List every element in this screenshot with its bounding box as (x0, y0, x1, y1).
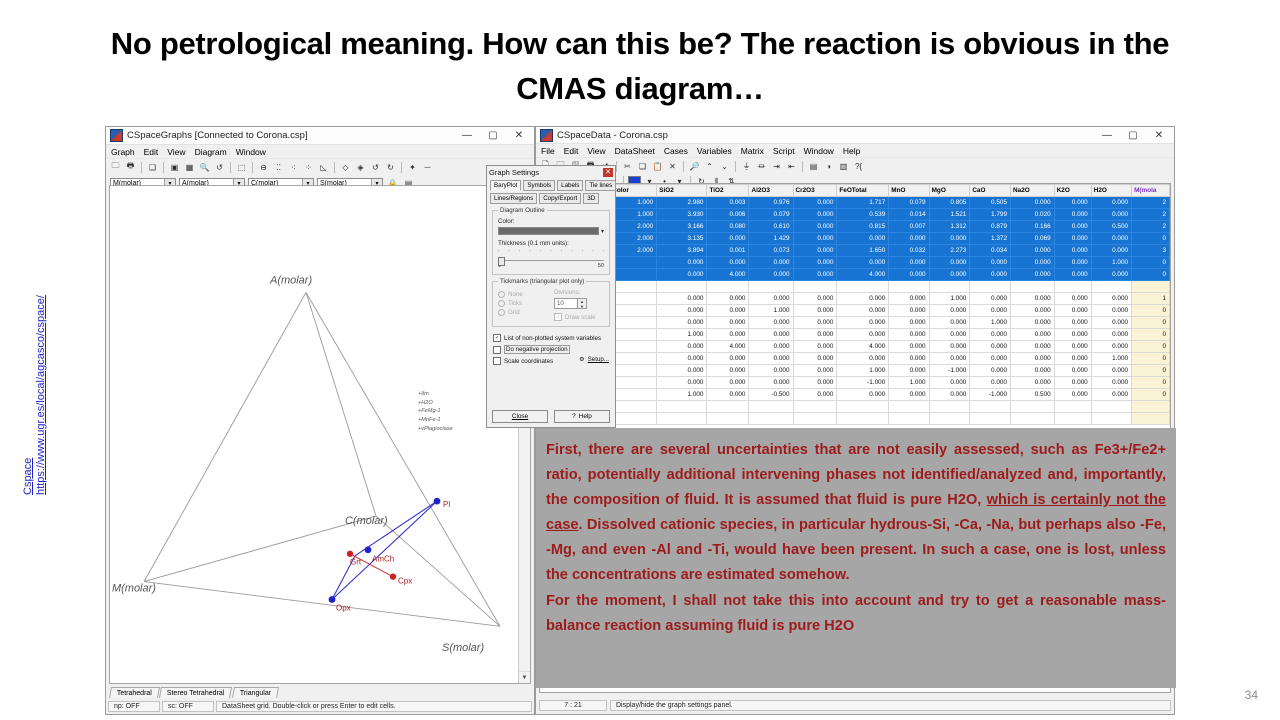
table-cell[interactable]: 0.000 (657, 365, 707, 377)
table-cell[interactable]: 2 (1132, 221, 1170, 233)
table-cell[interactable]: 0.000 (889, 365, 929, 377)
table-cell[interactable]: 0.000 (1054, 341, 1091, 353)
table-cell[interactable]: 0.166 (1011, 221, 1055, 233)
table-cell[interactable]: 0.000 (837, 293, 889, 305)
table-cell[interactable]: 0.000 (1054, 329, 1091, 341)
table-cell[interactable]: 0.000 (793, 245, 837, 257)
col-header-feototal[interactable]: FeOTotal (837, 185, 889, 197)
table-cell[interactable]: 0.000 (970, 353, 1011, 365)
table-cell[interactable]: 0.000 (1054, 389, 1091, 401)
table-cell[interactable]: 0 (1132, 233, 1170, 245)
table-cell[interactable]: 0.001 (707, 245, 749, 257)
col-header-na2o[interactable]: Na2O (1011, 185, 1055, 197)
rotate-icon[interactable]: ⊖ (257, 161, 270, 174)
table-cell[interactable]: 0.000 (1091, 317, 1131, 329)
table-row[interactable]: 1.0001.0003.9300.0060.0790.0000.5390.014… (541, 209, 1170, 221)
table-cell[interactable]: 1.000 (1091, 257, 1131, 269)
table-cell[interactable]: 0.000 (889, 269, 929, 281)
table-cell[interactable]: 0.000 (793, 305, 837, 317)
table-cell[interactable]: 0.000 (837, 233, 889, 245)
table-cell[interactable]: 0.000 (707, 329, 749, 341)
table-cell[interactable]: -0.500 (749, 389, 793, 401)
table-row[interactable]: clase1.0000.000-0.5000.0000.0000.0000.00… (541, 389, 1170, 401)
append-row-icon[interactable]: ⇤ (785, 160, 798, 173)
tab-copy-export[interactable]: Copy/Export (539, 193, 581, 204)
table-cell[interactable]: 0.000 (657, 377, 707, 389)
table-cell[interactable] (610, 269, 657, 281)
table-cell[interactable]: 0.000 (749, 377, 793, 389)
table-cell[interactable] (749, 401, 793, 413)
table-cell[interactable]: 0.000 (657, 353, 707, 365)
table-cell[interactable]: 0.000 (929, 329, 970, 341)
table-cell[interactable]: 0.000 (1011, 377, 1055, 389)
minimize-icon[interactable]: — (454, 128, 480, 143)
table-cell[interactable]: 0.000 (793, 233, 837, 245)
select-icon[interactable]: ⬚ (235, 161, 248, 174)
table-cell[interactable]: 0.000 (657, 305, 707, 317)
table-cell[interactable]: 0.000 (657, 341, 707, 353)
table-cell[interactable]: 0.000 (1054, 305, 1091, 317)
maximize-icon[interactable]: ▢ (1120, 128, 1146, 143)
table-cell[interactable]: 0.000 (657, 269, 707, 281)
table-cell[interactable]: 0.500 (1011, 389, 1055, 401)
table-cell[interactable]: 0.000 (929, 317, 970, 329)
table-cell[interactable] (749, 281, 793, 293)
region-icon[interactable]: ◺ (317, 161, 330, 174)
table-cell[interactable]: 0.000 (889, 257, 929, 269)
table-row[interactable]: 2.0002.0003.8940.0010.0730.0001.6500.032… (541, 245, 1170, 257)
table-cell[interactable]: 0.000 (837, 305, 889, 317)
script-icon[interactable]: ?{ (852, 160, 865, 173)
table-cell[interactable] (610, 257, 657, 269)
table-cell[interactable]: 0.003 (707, 197, 749, 209)
table-cell[interactable]: 0.000 (657, 317, 707, 329)
table-cell[interactable]: 0.000 (929, 305, 970, 317)
table-cell[interactable]: 1.000 (749, 305, 793, 317)
table-cell[interactable]: 3.930 (657, 209, 707, 221)
close-icon[interactable]: ✕ (603, 168, 613, 177)
table-cell[interactable]: 0.000 (1091, 233, 1131, 245)
close-icon[interactable]: ✕ (1146, 128, 1172, 143)
table-cell[interactable] (610, 305, 657, 317)
col-header-mgo[interactable]: MgO (929, 185, 970, 197)
table-row[interactable]: 0.0004.0000.0000.0004.0000.0000.0000.000… (541, 269, 1170, 281)
table-cell[interactable]: 0.000 (1054, 317, 1091, 329)
table-cell[interactable]: 0.000 (1011, 365, 1055, 377)
left-right-icon[interactable]: ◇ (339, 161, 352, 174)
table-cell[interactable] (1132, 281, 1170, 293)
table-cell[interactable]: 0.000 (793, 329, 837, 341)
table-cell[interactable] (970, 413, 1011, 425)
table-cell[interactable]: 0 (1132, 329, 1170, 341)
diagram-plot-area[interactable]: A(molar) M(molar) S(molar) C(molar) Pl (109, 185, 531, 684)
table-cell[interactable]: 0.805 (929, 197, 970, 209)
table-cell[interactable]: 2.980 (657, 197, 707, 209)
table-cell[interactable]: 4.000 (837, 341, 889, 353)
table-cell[interactable]: 0.000 (657, 257, 707, 269)
print-icon[interactable]: 🖶 (124, 161, 137, 174)
table-cell[interactable] (610, 401, 657, 413)
menu-view[interactable]: View (167, 147, 185, 157)
table-cell[interactable]: 0.000 (1091, 293, 1131, 305)
table-row[interactable] (541, 281, 1170, 293)
sort-asc-icon[interactable]: ⌃ (703, 160, 716, 173)
table-cell[interactable] (1011, 281, 1055, 293)
table-cell[interactable]: 0.000 (793, 257, 837, 269)
table-row[interactable]: 0.0000.0000.0000.000-1.0001.0000.0000.00… (541, 377, 1170, 389)
table-cell[interactable]: 0.000 (1054, 377, 1091, 389)
table-cell[interactable]: 1.000 (837, 365, 889, 377)
tab-tetrahedral[interactable]: Tetrahedral (109, 687, 160, 698)
table-cell[interactable]: 0.000 (793, 197, 837, 209)
table-cell[interactable] (837, 281, 889, 293)
table-row[interactable]: 0.0004.0000.0000.0004.0000.0000.0000.000… (541, 341, 1170, 353)
tab-triangular[interactable]: Triangular (232, 687, 279, 698)
paste-icon[interactable]: 📋 (651, 160, 664, 173)
table-row[interactable]: 0.0000.0000.0000.0000.0000.0000.0000.000… (541, 353, 1170, 365)
table-cell[interactable]: 1.000 (929, 293, 970, 305)
table-cell[interactable]: 0.000 (793, 341, 837, 353)
menu-edit[interactable]: Edit (144, 147, 159, 157)
table-cell[interactable]: 0.020 (1011, 209, 1055, 221)
table-cell[interactable]: 1.000 (610, 209, 657, 221)
table-cell[interactable]: 0.000 (793, 221, 837, 233)
table-cell[interactable]: 0.000 (793, 365, 837, 377)
table-cell[interactable]: 0.000 (1091, 197, 1131, 209)
table-cell[interactable] (889, 401, 929, 413)
table-cell[interactable]: 0.000 (1011, 269, 1055, 281)
col-header-mno[interactable]: MnO (889, 185, 929, 197)
table-cell[interactable]: 1.000 (657, 389, 707, 401)
table-cell[interactable]: 0.000 (1011, 197, 1055, 209)
table-cell[interactable]: 0.032 (889, 245, 929, 257)
table-cell[interactable]: 0.539 (837, 209, 889, 221)
close-button[interactable]: Close (492, 410, 548, 423)
table-cell[interactable]: 0.000 (929, 257, 970, 269)
solve-icon[interactable]: ◑ (822, 160, 835, 173)
table-cell[interactable]: 3.894 (657, 245, 707, 257)
table-cell[interactable]: 0.000 (707, 257, 749, 269)
report-icon[interactable]: ▥ (837, 160, 850, 173)
col-header-h2o[interactable]: H2O (1091, 185, 1131, 197)
minimize-icon[interactable]: — (1094, 128, 1120, 143)
table-cell[interactable]: 0.815 (837, 221, 889, 233)
table-cell[interactable]: 0.000 (970, 377, 1011, 389)
color-swatch[interactable] (498, 227, 599, 235)
table-row[interactable]: r)1.0000.0000.0000.0000.0000.0000.0000.0… (541, 329, 1170, 341)
checkbox-list-non-plotted[interactable]: ✓ List of non-plotted system variables (493, 334, 609, 342)
table-cell[interactable] (889, 413, 929, 425)
delete-icon[interactable]: ✕ (666, 160, 679, 173)
table-cell[interactable]: 4.000 (707, 341, 749, 353)
table-cell[interactable] (610, 389, 657, 401)
menu-graph[interactable]: Graph (111, 147, 135, 157)
scroll-down-icon[interactable]: ▼ (519, 671, 530, 683)
table-cell[interactable]: 0.000 (1091, 329, 1131, 341)
table-cell[interactable]: 0.000 (1011, 257, 1055, 269)
table-cell[interactable]: 0.000 (1054, 353, 1091, 365)
thickness-slider[interactable] (498, 257, 604, 263)
sort-desc-icon[interactable]: ⌄ (718, 160, 731, 173)
minus-icon[interactable]: － (421, 161, 434, 174)
table-cell[interactable]: 0 (1132, 365, 1170, 377)
copy-icon[interactable]: ❏ (146, 161, 159, 174)
table-cell[interactable]: 0.000 (1054, 233, 1091, 245)
table-cell[interactable]: 0.000 (1091, 305, 1131, 317)
table-cell[interactable] (970, 281, 1011, 293)
table-cell[interactable] (929, 281, 970, 293)
table-cell[interactable]: 0.000 (1054, 269, 1091, 281)
table-cell[interactable]: 0.000 (749, 341, 793, 353)
menu-window[interactable]: Window (804, 146, 834, 156)
table-cell[interactable]: 4.000 (837, 269, 889, 281)
graph-settings-tabs-row2[interactable]: Lines/Regions Copy/Export 3D (487, 191, 615, 204)
table-row[interactable]: 0.0000.0000.0000.0000.0000.0000.0000.000… (541, 257, 1170, 269)
table-row[interactable]: 2.0002.0003.1660.0800.6100.0000.8150.007… (541, 221, 1170, 233)
table-cell[interactable]: 0.000 (889, 293, 929, 305)
table-cell[interactable]: 0.000 (929, 341, 970, 353)
open-icon[interactable]: 🗀 (109, 161, 122, 174)
table-cell[interactable]: 0.000 (707, 233, 749, 245)
table-cell[interactable]: 0.000 (1054, 365, 1091, 377)
cspacegraphs-window[interactable]: CSpaceGraphs [Connected to Corona.csp] —… (105, 126, 535, 715)
table-cell[interactable]: 0.006 (707, 209, 749, 221)
table-cell[interactable] (610, 353, 657, 365)
table-cell[interactable] (749, 413, 793, 425)
table-cell[interactable]: 0.073 (749, 245, 793, 257)
table-cell[interactable]: 0.000 (889, 389, 929, 401)
copy-icon[interactable]: ❏ (636, 160, 649, 173)
col-header-mmolar[interactable]: M(mola (1132, 185, 1170, 197)
table-cell[interactable]: 0.000 (889, 353, 929, 365)
table-cell[interactable]: 1.000 (970, 317, 1011, 329)
table-cell[interactable]: 0.500 (1091, 221, 1131, 233)
cut-icon[interactable]: ✂ (621, 160, 634, 173)
table-cell[interactable]: 1.521 (929, 209, 970, 221)
table-cell[interactable]: 2.000 (610, 233, 657, 245)
find-icon[interactable]: 🔎 (688, 160, 701, 173)
table-cell[interactable]: 0.000 (749, 329, 793, 341)
table-cell[interactable]: 0.000 (889, 233, 929, 245)
table-cell[interactable]: 1.799 (970, 209, 1011, 221)
table-row[interactable]: 2.0002.0003.1350.0001.4290.0000.0000.000… (541, 233, 1170, 245)
col-header-cao[interactable]: CaO (970, 185, 1011, 197)
table-cell[interactable]: 0.000 (707, 389, 749, 401)
table-cell[interactable]: 0 (1132, 341, 1170, 353)
table-cell[interactable]: 0.000 (1091, 245, 1131, 257)
table-cell[interactable]: 0.000 (837, 389, 889, 401)
slider-thumb[interactable] (498, 257, 505, 266)
setup-button[interactable]: ⚙ Setup... (579, 356, 609, 363)
table-cell[interactable]: 0.000 (793, 353, 837, 365)
table-cell[interactable]: 0.976 (749, 197, 793, 209)
table-cell[interactable] (837, 401, 889, 413)
table-cell[interactable] (1091, 281, 1131, 293)
tab-baryplot[interactable]: BaryPlot (490, 180, 521, 191)
table-cell[interactable] (610, 293, 657, 305)
table-cell[interactable]: 0.000 (1011, 353, 1055, 365)
table-row[interactable] (541, 401, 1170, 413)
table-cell[interactable]: 3.166 (657, 221, 707, 233)
table-cell[interactable]: 0.000 (1054, 257, 1091, 269)
menu-window[interactable]: Window (236, 147, 266, 157)
table-cell[interactable] (657, 413, 707, 425)
color-picker[interactable]: ▾ (498, 227, 604, 235)
table-cell[interactable]: 0.000 (749, 317, 793, 329)
divisions-value[interactable]: 10 (554, 298, 578, 309)
undo-icon[interactable]: ↺ (213, 161, 226, 174)
table-cell[interactable]: 0.000 (1091, 365, 1131, 377)
table-cell[interactable]: 0.000 (970, 293, 1011, 305)
checkbox-scale-coordinates[interactable]: Scale coordinates (493, 357, 579, 365)
points-icon[interactable]: ⁚⁚ (272, 161, 285, 174)
table-cell[interactable]: 0 (1132, 305, 1170, 317)
table-cell[interactable]: 2 (1132, 209, 1170, 221)
table-cell[interactable]: 0.000 (929, 377, 970, 389)
table-cell[interactable]: 0.000 (970, 329, 1011, 341)
tab-stereo-tetrahedral[interactable]: Stereo Tetrahedral (159, 687, 232, 698)
table-cell[interactable]: 0.000 (970, 365, 1011, 377)
col-header-k2o[interactable]: K2O (1054, 185, 1091, 197)
table-cell[interactable]: 0.000 (1054, 293, 1091, 305)
tab-lines-regions[interactable]: Lines/Regions (490, 193, 537, 204)
cspacegraphs-toolbar[interactable]: 🗀 🖶 ❏ ▣ ▦ 🔍 ↺ ⬚ ⊖ ⁚⁚ ⁖ ⁘ ◺ ◇ ◈ ↺ ↻ ✦ － (106, 158, 534, 175)
table-cell[interactable]: 0 (1132, 389, 1170, 401)
table-cell[interactable]: 0.000 (793, 209, 837, 221)
table-cell[interactable]: 2.000 (610, 245, 657, 257)
tab-labels[interactable]: Labels (557, 180, 583, 191)
datasheet-table[interactable]: Tieline Color SiO2 TiO2 Al2O3 Cr2O3 FeOT… (540, 184, 1170, 425)
menu-file[interactable]: File (541, 146, 555, 156)
stepper-arrows-icon[interactable]: ▲▼ (578, 298, 587, 309)
cspace-link[interactable]: Cspace https://www.ugr.es/local/agcasco/… (22, 235, 62, 495)
menu-datasheet[interactable]: DataSheet (615, 146, 655, 156)
table-cell[interactable]: 0.034 (970, 245, 1011, 257)
table-cell[interactable]: 1.000 (889, 377, 929, 389)
table-cell[interactable]: 0.000 (1054, 209, 1091, 221)
table-cell[interactable] (610, 329, 657, 341)
table-cell[interactable] (929, 413, 970, 425)
multi-points-icon[interactable]: ⁘ (302, 161, 315, 174)
cspacegraphs-menubar[interactable]: Graph Edit View Diagram Window (106, 145, 534, 158)
tab-tie-lines[interactable]: Tie lines (585, 180, 616, 191)
cspacedata-toolbar[interactable]: 🗋 🗀 🖫 🖶 ↺ ✂ ❏ 📋 ✕ 🔎 ⌃ ⌄ ⏚ ⏛ ⇥ ⇤ ▤ ◑ ▥ ?{ (536, 157, 1174, 174)
table-cell[interactable]: 1.372 (970, 233, 1011, 245)
cspace-link-url[interactable]: https://www.ugr.es/local/agcasco/cspace/ (35, 235, 47, 495)
table-cell[interactable]: 0.000 (793, 377, 837, 389)
table-cell[interactable] (1091, 413, 1131, 425)
table-cell[interactable] (1132, 401, 1170, 413)
matrix-icon[interactable]: ▤ (807, 160, 820, 173)
diamond-icon[interactable]: ✦ (406, 161, 419, 174)
table-row[interactable]: 1.0001.0002.9800.0030.9760.0001.7170.079… (541, 197, 1170, 209)
tab-symbols[interactable]: Symbols (523, 180, 555, 191)
table-cell[interactable]: 0.000 (889, 305, 929, 317)
table-cell[interactable]: 1.650 (837, 245, 889, 257)
table-cell[interactable]: 0.000 (837, 257, 889, 269)
cspacegraphs-titlebar[interactable]: CSpaceGraphs [Connected to Corona.csp] —… (106, 127, 534, 145)
divisions-stepper[interactable]: 10 ▲▼ (554, 298, 604, 309)
table-cell[interactable] (610, 341, 657, 353)
graph-settings-tabs-row1[interactable]: BaryPlot Symbols Labels Tie lines (487, 178, 615, 191)
table-cell[interactable]: 0.000 (1011, 329, 1055, 341)
cspace-link-label[interactable]: Cspace (22, 235, 34, 495)
table-cell[interactable]: 0.000 (707, 305, 749, 317)
table-cell[interactable]: 0.080 (707, 221, 749, 233)
table-cell[interactable]: 0.000 (889, 341, 929, 353)
table-cell[interactable]: 0.000 (1011, 341, 1055, 353)
table-cell[interactable]: 0.000 (707, 353, 749, 365)
table-cell[interactable]: 0.000 (707, 317, 749, 329)
table-cell[interactable]: 0.000 (1011, 293, 1055, 305)
table-cell[interactable]: -1.000 (929, 365, 970, 377)
table-cell[interactable]: 0.000 (749, 269, 793, 281)
table-cell[interactable]: 0.000 (889, 329, 929, 341)
table-cell[interactable]: 4.000 (707, 269, 749, 281)
table-cell[interactable]: 0.000 (1054, 245, 1091, 257)
cspacedata-titlebar[interactable]: CSpaceData - Corona.csp — ▢ ✕ (536, 127, 1174, 144)
table-cell[interactable] (1054, 413, 1091, 425)
table-cell[interactable]: 0.000 (970, 305, 1011, 317)
table-row[interactable] (541, 413, 1170, 425)
table-cell[interactable]: 0.000 (970, 341, 1011, 353)
table-cell[interactable]: 1.312 (929, 221, 970, 233)
filter-icon[interactable]: ⏚ (740, 160, 753, 173)
table-cell[interactable]: 0.079 (749, 209, 793, 221)
radio-ticks[interactable]: Ticks (498, 300, 554, 307)
table-cell[interactable] (610, 317, 657, 329)
menu-edit[interactable]: Edit (564, 146, 579, 156)
table-cell[interactable] (610, 377, 657, 389)
chevron-down-icon[interactable]: ▾ (601, 228, 604, 235)
table-cell[interactable]: 3 (1132, 245, 1170, 257)
table-cell[interactable]: 0.000 (707, 365, 749, 377)
table-cell[interactable]: 0.000 (1054, 221, 1091, 233)
table-cell[interactable]: 0.505 (970, 197, 1011, 209)
zoom-icon[interactable]: 🔍 (198, 161, 211, 174)
table-cell[interactable] (610, 281, 657, 293)
table-cell[interactable]: 0.000 (837, 329, 889, 341)
table-row[interactable]: r)0.0000.0000.0000.0000.0000.0001.0000.0… (541, 293, 1170, 305)
grid-icon[interactable]: ▦ (183, 161, 196, 174)
table-cell[interactable]: 0.000 (707, 377, 749, 389)
table-cell[interactable]: 0.069 (1011, 233, 1055, 245)
menu-view[interactable]: View (587, 146, 605, 156)
col-header-sio2[interactable]: SiO2 (657, 185, 707, 197)
line-points-icon[interactable]: ⁖ (287, 161, 300, 174)
table-cell[interactable]: 0.000 (1054, 197, 1091, 209)
table-cell[interactable]: 1.000 (1091, 353, 1131, 365)
table-cell[interactable] (1011, 401, 1055, 413)
table-cell[interactable]: 0.000 (793, 317, 837, 329)
table-cell[interactable]: 0 (1132, 353, 1170, 365)
help-button[interactable]: ? Help (554, 410, 610, 423)
table-cell[interactable]: 1.717 (837, 197, 889, 209)
table-cell[interactable]: 0.079 (889, 197, 929, 209)
table-cell[interactable]: -1.000 (970, 389, 1011, 401)
table-cell[interactable]: 0.000 (749, 365, 793, 377)
table-cell[interactable]: 0.000 (1091, 389, 1131, 401)
table-cell[interactable]: 0.000 (929, 389, 970, 401)
table-cell[interactable]: 0.000 (929, 353, 970, 365)
menu-script[interactable]: Script (773, 146, 795, 156)
table-cell[interactable]: 0.000 (793, 389, 837, 401)
cspacedata-menubar[interactable]: File Edit View DataSheet Cases Variables… (536, 144, 1174, 157)
rotate-left-icon[interactable]: ↺ (369, 161, 382, 174)
table-cell[interactable] (889, 281, 929, 293)
swap-icon[interactable]: ◈ (354, 161, 367, 174)
table-cell[interactable] (657, 401, 707, 413)
